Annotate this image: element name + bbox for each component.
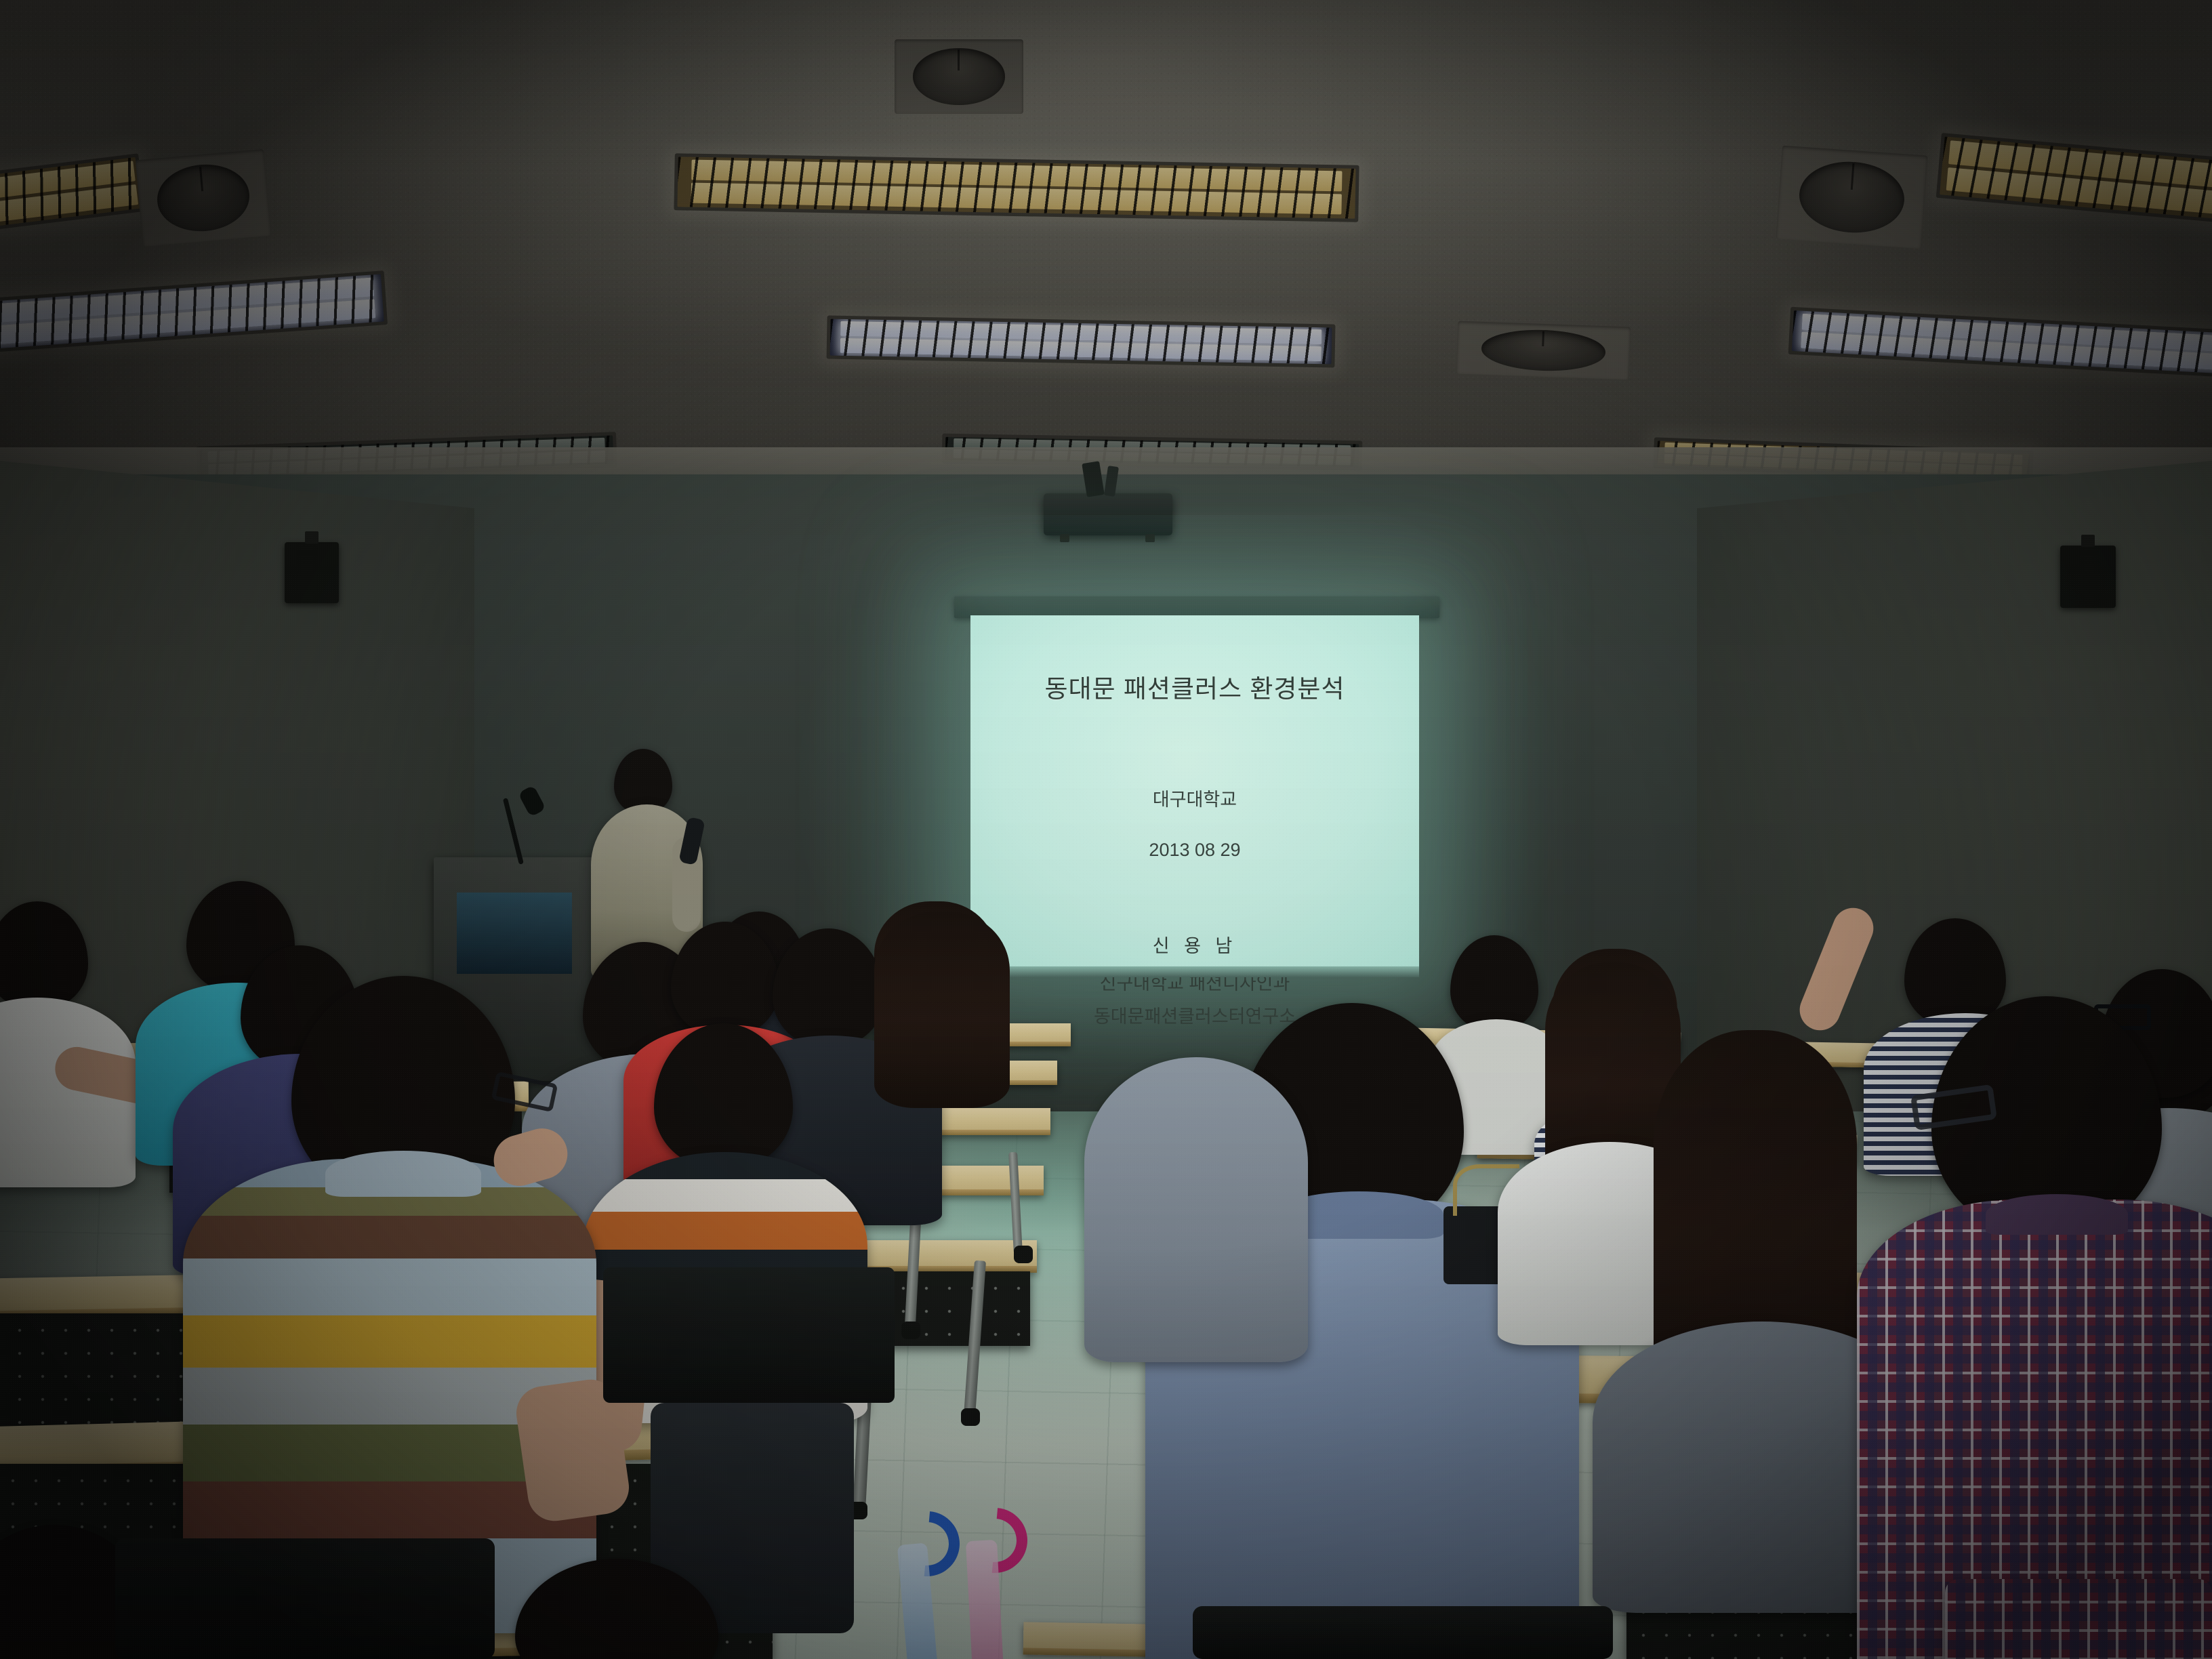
wall-speaker-right (2060, 546, 2116, 608)
desk-caster-1 (901, 1322, 920, 1339)
ceiling-light-fixture-center-1 (674, 153, 1359, 222)
projector-foot-right (1145, 534, 1155, 542)
chair-back-right (1193, 1606, 1613, 1659)
lectern-monitor (457, 893, 572, 974)
desk-caster-2 (961, 1408, 980, 1426)
polo-collar (325, 1151, 481, 1197)
chair-back-mid (603, 1267, 895, 1403)
desk-caster-4 (1014, 1246, 1033, 1263)
slide-affiliation-2: 동대문패션클러스터연구소 (1094, 1002, 1296, 1028)
ceiling-vent-right (1776, 146, 1927, 249)
ceiling-projector (1044, 493, 1172, 535)
screen-bottom-weight-bar (970, 966, 1419, 977)
slide-date: 2013 08 29 (1149, 840, 1240, 861)
ceiling-access-panel (1456, 321, 1631, 380)
torso (1945, 1579, 2212, 1659)
projector-foot-left (1060, 534, 1069, 542)
lecture-hall-scene: 동대문 패션클러스 환경분석 대구대학교 2013 08 29 신 용 남 신구… (0, 0, 2212, 1659)
wall-speaker-left (285, 542, 339, 603)
slide-author: 신 용 남 (1153, 931, 1237, 958)
projection-screen: 동대문 패션클러스 환경분석 대구대학교 2013 08 29 신 용 남 신구… (970, 615, 1419, 976)
ceiling-vent-center (895, 39, 1023, 114)
shirt-collar (1986, 1194, 2128, 1235)
slide-organization: 대구대학교 (1153, 785, 1237, 811)
chair-back-foreground (115, 1538, 495, 1659)
torso (1084, 1057, 1308, 1362)
hair (874, 912, 1010, 1108)
ceiling-light-fixture-center-2 (826, 315, 1335, 367)
slide-title: 동대문 패션클러스 환경분석 (1044, 668, 1345, 705)
slide-content: 동대문 패션클러스 환경분석 대구대학교 2013 08 29 신 용 남 신구… (970, 615, 1419, 976)
ceiling-vent-left (136, 149, 271, 247)
